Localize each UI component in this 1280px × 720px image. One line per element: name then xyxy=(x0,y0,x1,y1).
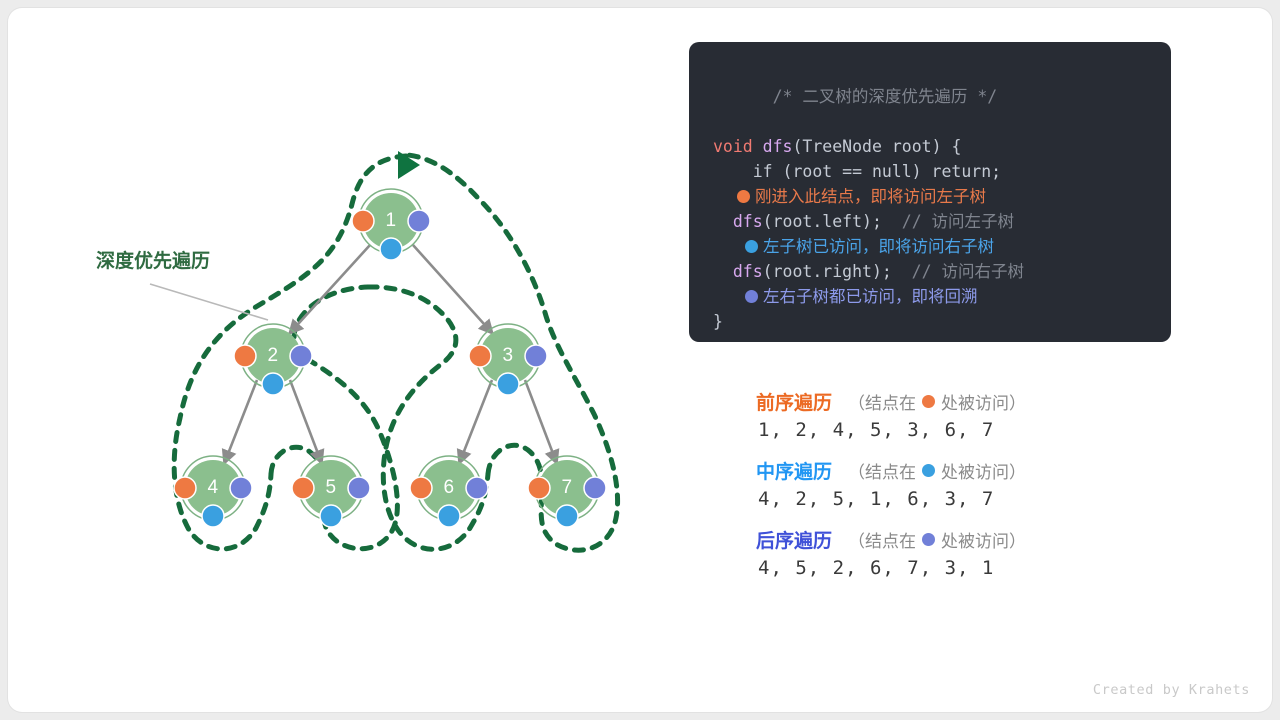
code-line-postorder-note: 左右子树都已访问，即将回溯 xyxy=(689,284,1171,309)
orange-dot-icon xyxy=(922,395,935,408)
code-postorder-note-text: 左右子树都已访问，即将回溯 xyxy=(763,287,978,306)
dfs-caption-label: 深度优先遍历 xyxy=(96,246,210,273)
traversal-block-1: 中序遍历（结点在处被访问）4, 2, 5, 1, 6, 3, 7 xyxy=(756,457,1176,510)
traversal-title: 中序遍历 xyxy=(756,457,832,484)
traversal-note-close: 处被访问） xyxy=(941,527,1026,552)
traversal-block-0: 前序遍历（结点在处被访问）1, 2, 4, 5, 3, 6, 7 xyxy=(756,388,1176,441)
code-comment-text: /* 二叉树的深度优先遍历 */ xyxy=(773,87,998,106)
traversal-note: （结点在处被访问） xyxy=(848,458,1026,483)
traversal-note: （结点在处被访问） xyxy=(848,389,1026,414)
postorder-marker-dot xyxy=(584,477,606,499)
traversal-heading: 后序遍历（结点在处被访问） xyxy=(756,526,1176,553)
inorder-marker-dot xyxy=(262,373,284,395)
code-block: /* 二叉树的深度优先遍历 */ void dfs(TreeNode root)… xyxy=(689,42,1171,342)
tree-node-6[interactable] xyxy=(410,456,488,527)
purple-dot-icon xyxy=(745,290,758,303)
postorder-marker-dot xyxy=(525,345,547,367)
code-line-inorder-note: 左子树已访问，即将访问右子树 xyxy=(689,234,1171,259)
code-keyword-void: void xyxy=(713,137,753,156)
postorder-marker-dot xyxy=(466,477,488,499)
postorder-marker-dot xyxy=(230,477,252,499)
code-dfs-left-args: (root.left); xyxy=(763,212,882,231)
credit-text: Created by Krahets xyxy=(1093,682,1250,698)
code-line-preorder-note: 刚进入此结点，即将访问左子树 xyxy=(689,184,1171,209)
traversal-sequence: 1, 2, 4, 5, 3, 6, 7 xyxy=(758,419,1176,441)
blue-dot-icon xyxy=(745,240,758,253)
traversal-sequence: 4, 2, 5, 1, 6, 3, 7 xyxy=(758,488,1176,510)
traversal-note-open: （结点在 xyxy=(848,527,916,552)
tree-node-2[interactable] xyxy=(234,324,312,395)
traversal-heading: 中序遍历（结点在处被访问） xyxy=(756,457,1176,484)
binary-tree-diagram: 深度优先遍历 1234567 xyxy=(8,8,668,712)
code-dfs-right-args: (root.right); xyxy=(763,262,892,281)
code-signature-rest: (TreeNode root) { xyxy=(793,137,962,156)
preorder-marker-dot xyxy=(174,477,196,499)
preorder-marker-dot xyxy=(528,477,550,499)
preorder-marker-dot xyxy=(292,477,314,499)
traversal-results: 前序遍历（结点在处被访问）1, 2, 4, 5, 3, 6, 7中序遍历（结点在… xyxy=(756,388,1176,595)
code-line-close-brace: } xyxy=(689,309,1171,334)
traversal-title: 前序遍历 xyxy=(756,388,832,415)
inorder-marker-dot xyxy=(202,505,224,527)
inorder-marker-dot xyxy=(556,505,578,527)
code-inorder-note-text: 左子树已访问，即将访问右子树 xyxy=(763,237,994,256)
postorder-marker-dot xyxy=(408,210,430,232)
traversal-block-2: 后序遍历（结点在处被访问）4, 5, 2, 6, 7, 3, 1 xyxy=(756,526,1176,579)
dfs-path-right xyxy=(368,287,488,549)
code-preorder-note-text: 刚进入此结点，即将访问左子树 xyxy=(755,187,986,206)
tree-node-3[interactable] xyxy=(469,324,547,395)
caption-leader-line xyxy=(148,280,278,325)
tree-node-4[interactable] xyxy=(174,456,252,527)
edge-3-6 xyxy=(459,380,492,464)
postorder-marker-dot xyxy=(348,477,370,499)
edge-2-5 xyxy=(290,380,322,464)
code-dfs-right-comment: // 访问右子树 xyxy=(892,262,1024,281)
tree-svg xyxy=(8,8,668,712)
traversal-heading: 前序遍历（结点在处被访问） xyxy=(756,388,1176,415)
traversal-sequence: 4, 5, 2, 6, 7, 3, 1 xyxy=(758,557,1176,579)
purple-dot-icon xyxy=(922,533,935,546)
code-fn-dfs-left: dfs xyxy=(713,212,763,231)
traversal-note-close: 处被访问） xyxy=(941,389,1026,414)
traversal-title: 后序遍历 xyxy=(756,526,832,553)
preorder-marker-dot xyxy=(410,477,432,499)
inorder-marker-dot xyxy=(320,505,342,527)
edge-1-3 xyxy=(413,245,493,334)
code-line-dfs-left: dfs(root.left); // 访问左子树 xyxy=(689,209,1171,234)
preorder-marker-dot xyxy=(234,345,256,367)
tree-node-5[interactable] xyxy=(292,456,370,527)
inorder-marker-dot xyxy=(497,373,519,395)
preorder-marker-dot xyxy=(469,345,491,367)
code-dfs-left-comment: // 访问左子树 xyxy=(882,212,1014,231)
inorder-marker-dot xyxy=(438,505,460,527)
preorder-marker-dot xyxy=(352,210,374,232)
edge-2-4 xyxy=(224,380,257,464)
edge-1-2 xyxy=(289,245,370,334)
traversal-note-close: 处被访问） xyxy=(941,458,1026,483)
code-line-dfs-right: dfs(root.right); // 访问右子树 xyxy=(689,259,1171,284)
code-line-comment: /* 二叉树的深度优先遍历 */ xyxy=(689,59,1171,134)
traversal-note: （结点在处被访问） xyxy=(848,527,1026,552)
inorder-marker-dot xyxy=(380,238,402,260)
traversal-note-open: （结点在 xyxy=(848,389,916,414)
traversal-note-open: （结点在 xyxy=(848,458,916,483)
postorder-marker-dot xyxy=(290,345,312,367)
code-line-nullcheck: if (root == null) return; xyxy=(689,159,1171,184)
orange-dot-icon xyxy=(737,190,750,203)
code-fn-dfs: dfs xyxy=(753,137,793,156)
code-line-signature: void dfs(TreeNode root) { xyxy=(689,134,1171,159)
figure-card: 深度优先遍历 1234567 /* 二叉树的深度优先遍历 */ void dfs… xyxy=(8,8,1272,712)
blue-dot-icon xyxy=(922,464,935,477)
code-fn-dfs-right: dfs xyxy=(713,262,763,281)
